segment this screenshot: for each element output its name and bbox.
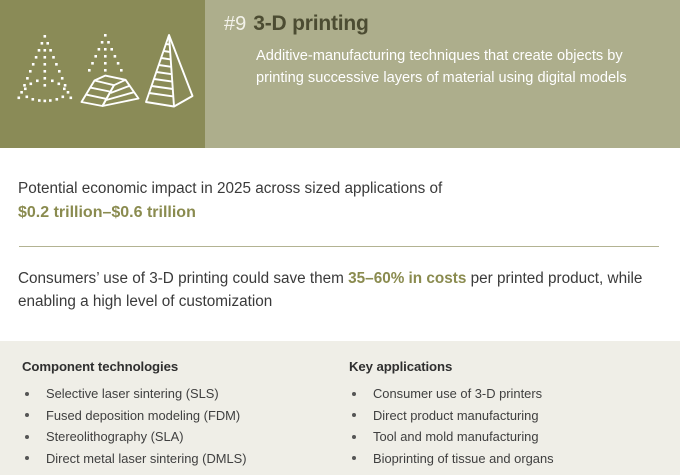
key-applications-list: Consumer use of 3-D printers Direct prod…: [349, 383, 669, 469]
list-item: Bioprinting of tissue and organs: [349, 448, 669, 470]
bottom-panel: Component technologies Selective laser s…: [0, 341, 680, 475]
list-item-label: Tool and mold manufacturing: [373, 429, 539, 444]
savings-highlight: 35–60% in costs: [348, 270, 466, 287]
component-technologies-list: Selective laser sintering (SLS) Fused de…: [22, 383, 342, 469]
key-applications-column: Key applications Consumer use of 3-D pri…: [349, 359, 669, 469]
list-item: Consumer use of 3-D printers: [349, 383, 669, 405]
impact-value: $0.2 trillion–$0.6 trillion: [18, 201, 658, 224]
section-divider: [19, 246, 659, 247]
icon-panel: [0, 0, 205, 148]
infographic-card: #93-D printing Additive-manufacturing te…: [0, 0, 680, 475]
list-item-label: Fused deposition modeling (FDM): [46, 408, 240, 423]
list-item: Stereolithography (SLA): [22, 426, 342, 448]
column-title: Key applications: [349, 359, 669, 374]
list-item-label: Direct metal laser sintering (DMLS): [46, 451, 247, 466]
list-item: Direct metal laser sintering (DMLS): [22, 448, 342, 470]
bullet-icon: [352, 435, 356, 439]
list-item-label: Direct product manufacturing: [373, 408, 539, 423]
title-row: #93-D printing: [224, 12, 369, 36]
bullet-icon: [25, 435, 29, 439]
header-description: Additive-manufacturing techniques that c…: [256, 46, 668, 89]
rank-number: #9: [224, 13, 246, 35]
bullet-icon: [352, 456, 356, 460]
list-item: Direct product manufacturing: [349, 405, 669, 427]
header-text-block: #93-D printing Additive-manufacturing te…: [224, 0, 668, 148]
bullet-icon: [25, 456, 29, 460]
savings-statement: Consumers’ use of 3-D printing could sav…: [18, 267, 663, 313]
bullet-icon: [352, 413, 356, 417]
three-stage-pyramid-printing-icon: [14, 32, 196, 114]
list-item-label: Stereolithography (SLA): [46, 429, 184, 444]
economic-impact-block: Potential economic impact in 2025 across…: [18, 178, 658, 224]
middle-section: Potential economic impact in 2025 across…: [0, 148, 680, 341]
column-title: Component technologies: [22, 359, 342, 374]
savings-prefix: Consumers’ use of 3-D printing could sav…: [18, 270, 348, 287]
page-title: 3-D printing: [253, 12, 368, 35]
list-item: Fused deposition modeling (FDM): [22, 405, 342, 427]
impact-lead-text: Potential economic impact in 2025 across…: [18, 178, 658, 200]
list-item-label: Consumer use of 3-D printers: [373, 386, 542, 401]
bullet-icon: [25, 413, 29, 417]
component-technologies-column: Component technologies Selective laser s…: [22, 359, 342, 469]
bullet-icon: [25, 392, 29, 396]
list-item-label: Bioprinting of tissue and organs: [373, 451, 554, 466]
list-item: Selective laser sintering (SLS): [22, 383, 342, 405]
bullet-icon: [352, 392, 356, 396]
list-item: Tool and mold manufacturing: [349, 426, 669, 448]
list-item-label: Selective laser sintering (SLS): [46, 386, 219, 401]
header-band: #93-D printing Additive-manufacturing te…: [0, 0, 680, 148]
